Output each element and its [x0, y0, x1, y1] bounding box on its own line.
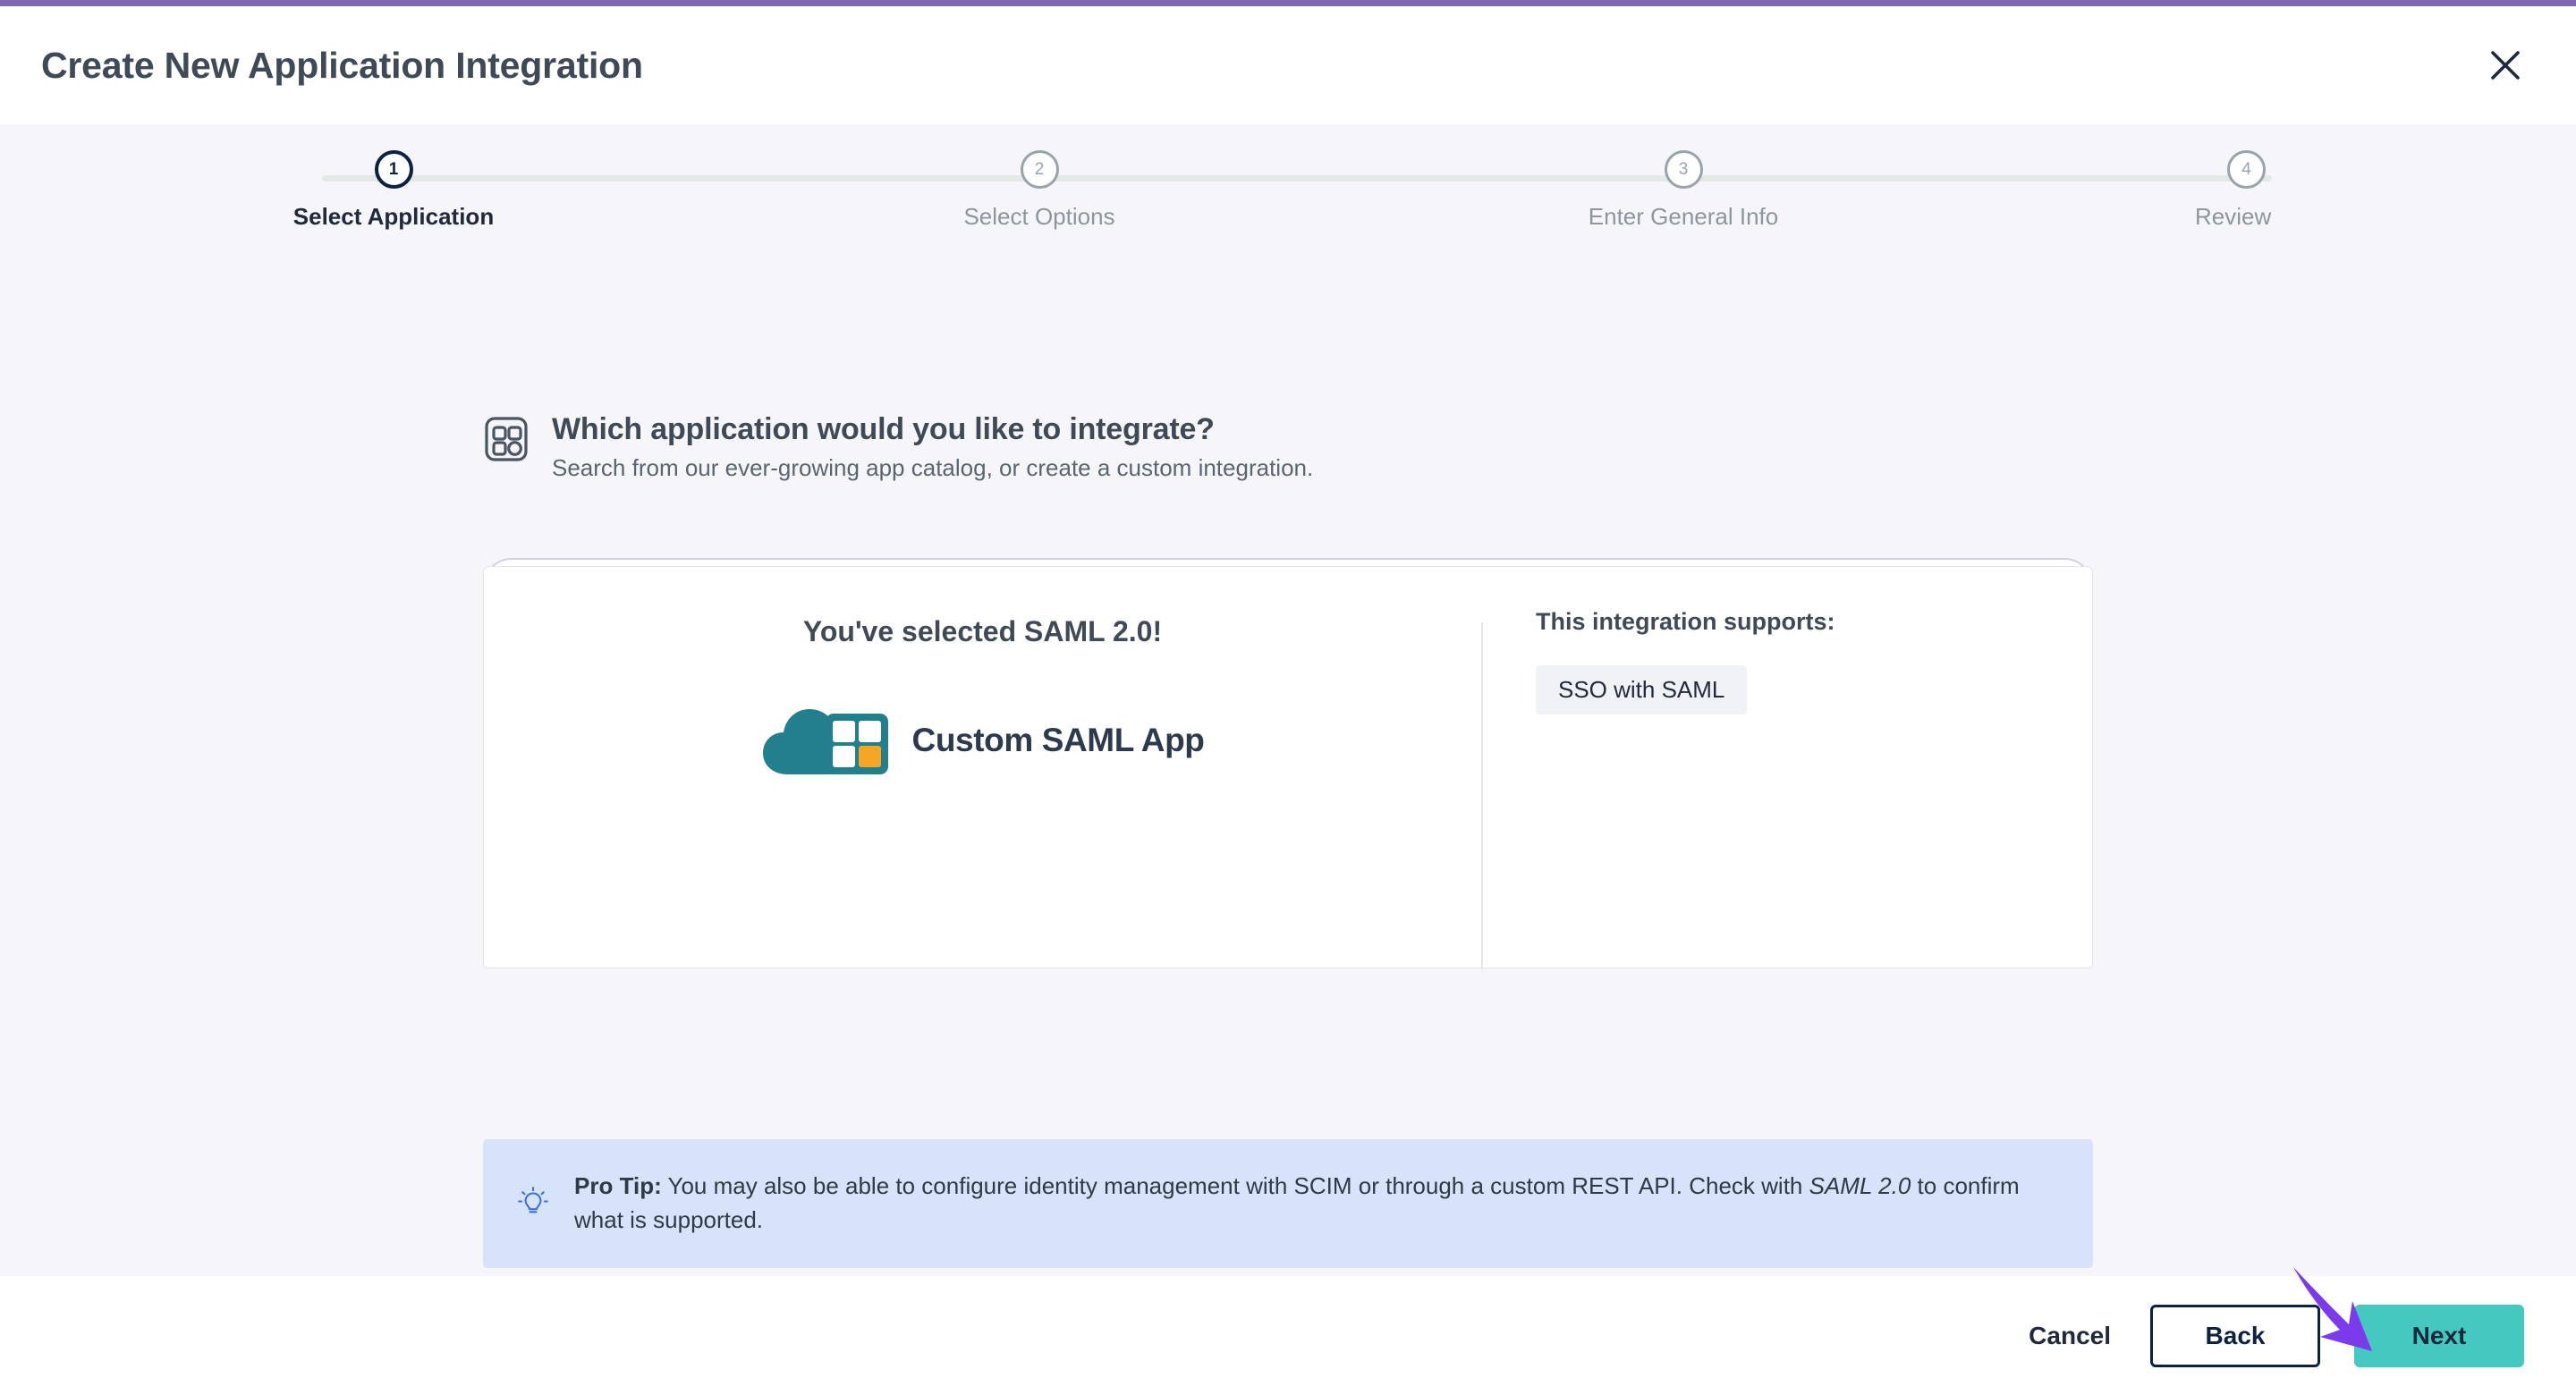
step-label: Review	[2195, 203, 2271, 231]
wizard-stepper: 1 Select Application 2 Select Options 3 …	[259, 150, 2334, 249]
selected-app-logo-row: Custom SAML App	[484, 699, 1481, 781]
question-title: Which application would you like to inte…	[552, 412, 1313, 447]
stepper-track	[322, 175, 2272, 182]
page-title: Create New Application Integration	[41, 45, 643, 87]
question-subtitle: Search from our ever-growing app catalog…	[552, 454, 1313, 482]
app-grid-icon	[483, 416, 530, 467]
step-number-badge: 2	[1021, 150, 1059, 189]
lightbulb-icon	[517, 1186, 549, 1222]
step-label: Enter General Info	[1589, 203, 1778, 231]
step-number-badge: 1	[375, 150, 413, 189]
next-button[interactable]: Next	[2354, 1305, 2524, 1367]
step-label: Select Application	[293, 203, 494, 231]
support-chip-sso-with-saml: SSO with SAML	[1536, 665, 1747, 714]
dialog-header: Create New Application Integration	[0, 6, 2576, 124]
question-block: Which application would you like to inte…	[483, 412, 1313, 482]
cancel-button[interactable]: Cancel	[2023, 1313, 2116, 1359]
selected-app-heading: You've selected SAML 2.0!	[484, 615, 1481, 648]
close-icon	[2490, 50, 2521, 80]
pro-tip-text: Pro Tip: You may also be able to configu…	[574, 1170, 2059, 1237]
pro-tip-emphasis: SAML 2.0	[1809, 1172, 1911, 1199]
dialog-footer: Cancel Back Next	[0, 1276, 2576, 1395]
selected-app-name: Custom SAML App	[912, 722, 1205, 759]
step-label: Select Options	[963, 203, 1114, 231]
pro-tip-callout: Pro Tip: You may also be able to configu…	[483, 1139, 2093, 1268]
supports-heading: This integration supports:	[1536, 608, 1835, 636]
pro-tip-body-1: You may also be able to configure identi…	[662, 1172, 1809, 1199]
dialog-body: 1 Select Application 2 Select Options 3 …	[0, 124, 2576, 1276]
selected-app-card: You've selected SAML 2.0! Custom SAML Ap…	[483, 566, 2093, 968]
back-button[interactable]: Back	[2150, 1305, 2320, 1367]
stepper-step-select-application[interactable]: 1 Select Application	[259, 150, 528, 231]
step-number-badge: 4	[2227, 150, 2266, 189]
stepper-step-review[interactable]: 4 Review	[2195, 150, 2334, 231]
step-number-badge: 3	[1665, 150, 1703, 189]
stepper-step-select-options[interactable]: 2 Select Options	[905, 150, 1174, 231]
pro-tip-label: Pro Tip:	[574, 1172, 662, 1199]
cloud-grid-logo	[761, 699, 900, 781]
close-button[interactable]	[2478, 38, 2533, 93]
card-divider	[1481, 622, 1483, 969]
stepper-step-enter-general-info[interactable]: 3 Enter General Info	[1549, 150, 1818, 231]
accent-top-border	[0, 0, 2576, 6]
